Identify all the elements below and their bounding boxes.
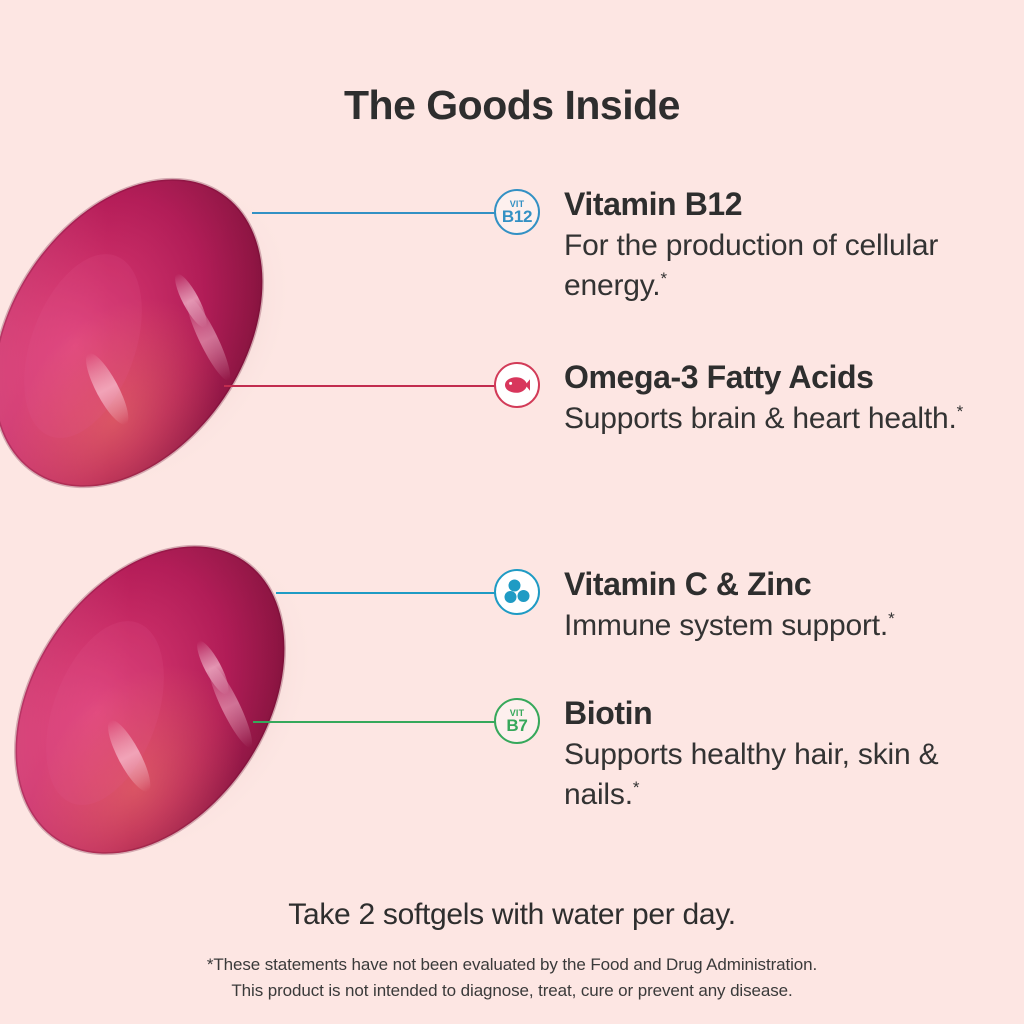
- capsule-bottom: [0, 481, 375, 921]
- callout-text-block: Vitamin B12 For the production of cellul…: [564, 184, 1004, 306]
- callout-description-text: Immune system support.: [564, 609, 888, 642]
- dosage-instruction: Take 2 softgels with water per day.: [0, 898, 1024, 932]
- callout-description: Immune system support.*: [564, 606, 1004, 646]
- fish-icon: [494, 362, 540, 408]
- callout-description: Supports brain & heart health.*: [564, 399, 1004, 439]
- disclaimer-line-2: This product is not intended to diagnose…: [0, 978, 1024, 1004]
- callout-description: For the production of cellular energy.*: [564, 226, 1004, 306]
- callout-description: Supports healthy hair, skin & nails.*: [564, 735, 1004, 815]
- callout-description-text: For the production of cellular energy.: [564, 229, 938, 302]
- footnote-marker: *: [633, 778, 639, 797]
- infographic-canvas: The Goods Inside VIT B12 Vitamin B12 For…: [0, 0, 1024, 1024]
- footnote-marker: *: [957, 402, 963, 421]
- leader-line-omega-3: [224, 385, 495, 387]
- capsule-top: [0, 114, 353, 554]
- callout-heading: Omega-3 Fatty Acids: [564, 357, 1004, 397]
- footnote-marker: *: [888, 609, 894, 628]
- callout-description-text: Supports brain & heart health.: [564, 402, 957, 435]
- disclaimer-line-1: *These statements have not been evaluate…: [0, 952, 1024, 978]
- molecule-cluster-icon: [494, 569, 540, 615]
- callout-heading: Vitamin B12: [564, 184, 1004, 224]
- fish-glyph: [503, 376, 531, 394]
- callout-text-block: Vitamin C & Zinc Immune system support.*: [564, 564, 1004, 646]
- vitamin-b7-badge-icon: VIT B7: [494, 698, 540, 744]
- fda-disclaimer: *These statements have not been evaluate…: [0, 952, 1024, 1004]
- page-title: The Goods Inside: [0, 82, 1024, 129]
- leader-line-vitamin-b12: [252, 212, 495, 214]
- callout-text-block: Biotin Supports healthy hair, skin & nai…: [564, 693, 1004, 815]
- capsule-illustration-layer: [0, 0, 1024, 1024]
- callout-description-text: Supports healthy hair, skin & nails.: [564, 738, 938, 811]
- molecule-glyph: [504, 579, 531, 605]
- vitamin-b12-badge-icon: VIT B12: [494, 189, 540, 235]
- callout-heading: Vitamin C & Zinc: [564, 564, 1004, 604]
- badge-main-label: B12: [502, 209, 532, 225]
- leader-line-vitamin-c-zinc: [276, 592, 495, 594]
- footnote-marker: *: [660, 269, 666, 288]
- callout-text-block: Omega-3 Fatty Acids Supports brain & hea…: [564, 357, 1004, 439]
- badge-main-label: B7: [506, 718, 527, 734]
- leader-line-biotin: [253, 721, 495, 723]
- callout-heading: Biotin: [564, 693, 1004, 733]
